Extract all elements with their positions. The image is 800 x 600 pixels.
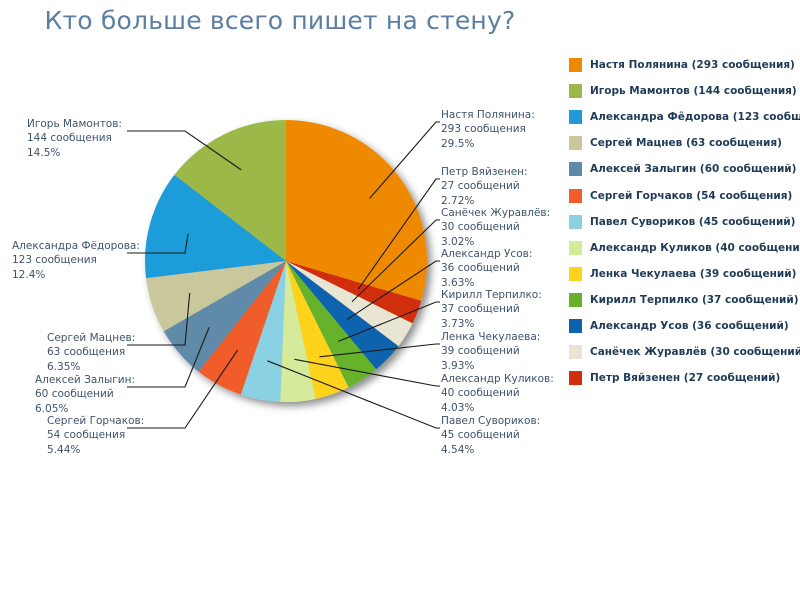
callout-percent: 12.4%: [12, 268, 140, 282]
callout-percent: 14.5%: [27, 146, 122, 160]
legend-item-label: Ленка Чекулаева (39 сообщений): [590, 268, 796, 280]
callout-count: 63 сообщения: [47, 345, 135, 359]
legend-item[interactable]: Сергей Горчаков (54 сообщения): [569, 182, 800, 208]
legend-item-label: Настя Полянина (293 сообщения): [590, 59, 795, 71]
legend-item[interactable]: Сергей Мацнев (63 сообщения): [569, 130, 800, 156]
callout-sergey-macnev: Сергей Мацнев: 63 сообщения 6.35%: [47, 331, 135, 374]
callout-name: Александра Фёдорова:: [12, 239, 140, 253]
legend-item[interactable]: Настя Полянина (293 сообщения): [569, 52, 800, 78]
callout-count: 37 сообщений: [441, 302, 542, 316]
callout-percent: 4.03%: [441, 401, 554, 415]
legend-item-label: Александр Усов (36 сообщений): [590, 320, 789, 332]
callout-aleksandra-fyodorova: Александра Фёдорова: 123 сообщения 12.4%: [12, 239, 140, 282]
legend-swatch-icon: [569, 319, 582, 333]
legend-swatch-icon: [569, 162, 582, 176]
callout-percent: 3.93%: [441, 359, 540, 373]
callout-nastya-polyanina: Настя Полянина: 293 сообщения 29.5%: [441, 108, 535, 151]
callout-name: Санёчек Журавлёв:: [441, 206, 550, 220]
legend-item-label: Павел Сувориков (45 сообщений): [590, 216, 795, 228]
callout-count: 54 сообщения: [47, 428, 144, 442]
callout-percent: 3.73%: [441, 317, 542, 331]
callout-name: Сергей Мацнев:: [47, 331, 135, 345]
callout-name: Кирилл Терпилко:: [441, 288, 542, 302]
callout-percent: 6.35%: [47, 360, 135, 374]
legend-item-label: Александр Куликов (40 сообщений): [590, 242, 800, 254]
legend-swatch-icon: [569, 241, 582, 255]
callout-lenka-chekulaeva: Ленка Чекулаева: 39 сообщений 3.93%: [441, 330, 540, 373]
callout-count: 45 сообщений: [441, 428, 540, 442]
legend-item[interactable]: Ленка Чекулаева (39 сообщений): [569, 261, 800, 287]
legend-swatch-icon: [569, 267, 582, 281]
callout-pavel-suvorikov: Павел Сувориков: 45 сообщений 4.54%: [441, 414, 540, 457]
callout-kirill-terpilko: Кирилл Терпилко: 37 сообщений 3.73%: [441, 288, 542, 331]
callout-name: Настя Полянина:: [441, 108, 535, 122]
callout-count: 123 сообщения: [12, 253, 140, 267]
legend-item[interactable]: Петр Вяйзенен (27 сообщений): [569, 365, 800, 391]
callout-count: 36 сообщений: [441, 261, 532, 275]
legend-swatch-icon: [569, 371, 582, 385]
callout-percent: 6.05%: [35, 402, 135, 416]
callout-name: Александр Усов:: [441, 247, 532, 261]
legend-swatch-icon: [569, 215, 582, 229]
legend-item-label: Игорь Мамонтов (144 сообщения): [590, 85, 797, 97]
callout-aleksandr-kulikov: Александр Куликов: 40 сообщений 4.03%: [441, 372, 554, 415]
callout-name: Сергей Горчаков:: [47, 414, 144, 428]
callout-aleksandr-usov: Александр Усов: 36 сообщений 3.63%: [441, 247, 532, 290]
legend-swatch-icon: [569, 345, 582, 359]
pie-slice-group: [145, 120, 427, 402]
legend-swatch-icon: [569, 189, 582, 203]
legend-item-label: Кирилл Терпилко (37 сообщений): [590, 294, 799, 306]
legend-item[interactable]: Санёчек Журавлёв (30 сообщений): [569, 339, 800, 365]
legend-item[interactable]: Павел Сувориков (45 сообщений): [569, 209, 800, 235]
callout-name: Павел Сувориков:: [441, 414, 540, 428]
legend-item[interactable]: Александр Куликов (40 сообщений): [569, 235, 800, 261]
callout-aleksey-zalygin: Алексей Залыгин: 60 сообщений 6.05%: [35, 373, 135, 416]
legend-swatch-icon: [569, 293, 582, 307]
callout-count: 30 сообщений: [441, 220, 550, 234]
chart-canvas: Кто больше всего пишет на стену? Настя П…: [0, 0, 800, 600]
legend-swatch-icon: [569, 136, 582, 150]
callout-name: Алексей Залыгин:: [35, 373, 135, 387]
callout-count: 39 сообщений: [441, 344, 540, 358]
callout-petr-vyaizenen: Петр Вяйзенен: 27 сообщений 2.72%: [441, 165, 528, 208]
legend-item[interactable]: Александра Фёдорова (123 сообщения): [569, 104, 800, 130]
callout-sanyochek-zhuravlyov: Санёчек Журавлёв: 30 сообщений 3.02%: [441, 206, 550, 249]
callout-count: 40 сообщений: [441, 386, 554, 400]
legend-item-label: Петр Вяйзенен (27 сообщений): [590, 372, 780, 384]
legend-swatch-icon: [569, 58, 582, 72]
legend-item[interactable]: Игорь Мамонтов (144 сообщения): [569, 78, 800, 104]
callout-name: Петр Вяйзенен:: [441, 165, 528, 179]
legend-item[interactable]: Кирилл Терпилко (37 сообщений): [569, 287, 800, 313]
legend-item[interactable]: Алексей Залыгин (60 сообщений): [569, 156, 800, 182]
callout-sergey-gorchakov: Сергей Горчаков: 54 сообщения 5.44%: [47, 414, 144, 457]
callout-count: 293 сообщения: [441, 122, 535, 136]
callout-igor-mamontov: Игорь Мамонтов: 144 сообщения 14.5%: [27, 117, 122, 160]
legend-swatch-icon: [569, 84, 582, 98]
callout-name: Игорь Мамонтов:: [27, 117, 122, 131]
callout-name: Ленка Чекулаева:: [441, 330, 540, 344]
callout-name: Александр Куликов:: [441, 372, 554, 386]
legend-item-label: Сергей Мацнев (63 сообщения): [590, 137, 782, 149]
callout-count: 144 сообщения: [27, 131, 122, 145]
legend: Настя Полянина (293 сообщения)Игорь Мамо…: [569, 52, 800, 391]
legend-item-label: Александра Фёдорова (123 сообщения): [590, 111, 800, 123]
legend-item-label: Санёчек Журавлёв (30 сообщений): [590, 346, 800, 358]
callout-percent: 4.54%: [441, 443, 540, 457]
legend-swatch-icon: [569, 110, 582, 124]
legend-item[interactable]: Александр Усов (36 сообщений): [569, 313, 800, 339]
callout-percent: 29.5%: [441, 137, 535, 151]
callout-count: 60 сообщений: [35, 387, 135, 401]
callout-count: 27 сообщений: [441, 179, 528, 193]
legend-item-label: Сергей Горчаков (54 сообщения): [590, 190, 792, 202]
callout-percent: 5.44%: [47, 443, 144, 457]
legend-item-label: Алексей Залыгин (60 сообщений): [590, 163, 796, 175]
